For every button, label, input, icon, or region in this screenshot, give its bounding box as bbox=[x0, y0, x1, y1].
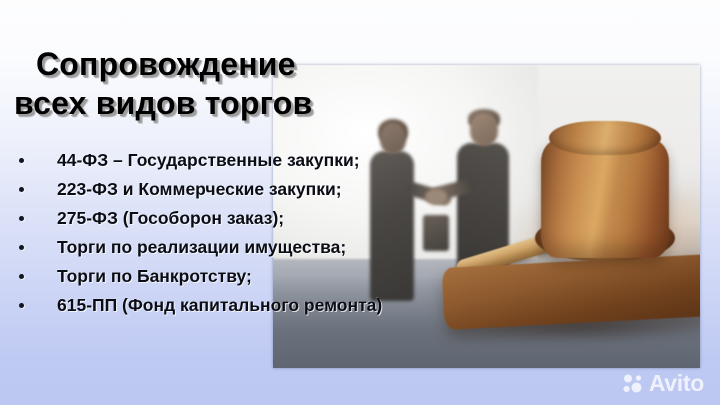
list-item: Торги по Банкротству; bbox=[10, 262, 570, 291]
list-item: 223-ФЗ и Коммерческие закупки; bbox=[10, 175, 570, 204]
avito-watermark-text: Avito bbox=[649, 372, 704, 395]
list-item-label: 223-ФЗ и Коммерческие закупки; bbox=[57, 179, 342, 199]
list-item: 44-ФЗ – Государственные закупки; bbox=[10, 146, 570, 175]
list-item: 275-ФЗ (Гособорон заказ); bbox=[10, 204, 570, 233]
slide-title-line-1: Сопровождение bbox=[36, 46, 296, 82]
list-item-label: Торги по Банкротству; bbox=[57, 266, 252, 286]
list-item-label: 44-ФЗ – Государственные закупки; bbox=[57, 150, 360, 170]
bullet-dot-icon bbox=[19, 216, 24, 221]
service-list: 44-ФЗ – Государственные закупки; 223-ФЗ … bbox=[10, 146, 570, 320]
list-item-label: 275-ФЗ (Гособорон заказ); bbox=[57, 208, 284, 228]
slide-canvas: Сопровождение всех видов торгов 44-ФЗ – … bbox=[0, 0, 720, 405]
bullet-dot-icon bbox=[19, 303, 24, 308]
slide-title: Сопровождение всех видов торгов bbox=[36, 45, 466, 123]
avito-dots-logo-icon bbox=[622, 373, 644, 395]
bullet-dot-icon bbox=[19, 245, 24, 250]
slide-title-line-2: всех видов торгов bbox=[14, 84, 466, 123]
list-item: Торги по реализации имущества; bbox=[10, 233, 570, 262]
bullet-dot-icon bbox=[19, 274, 24, 279]
avito-watermark: Avito bbox=[622, 372, 704, 395]
list-item-label: Торги по реализации имущества; bbox=[57, 237, 346, 257]
bullet-dot-icon bbox=[19, 158, 24, 163]
list-item-label: 615-ПП (Фонд капитального ремонта) bbox=[57, 295, 382, 315]
list-item: 615-ПП (Фонд капитального ремонта) bbox=[10, 291, 570, 320]
person-man-head bbox=[470, 113, 498, 146]
bullet-dot-icon bbox=[19, 187, 24, 192]
